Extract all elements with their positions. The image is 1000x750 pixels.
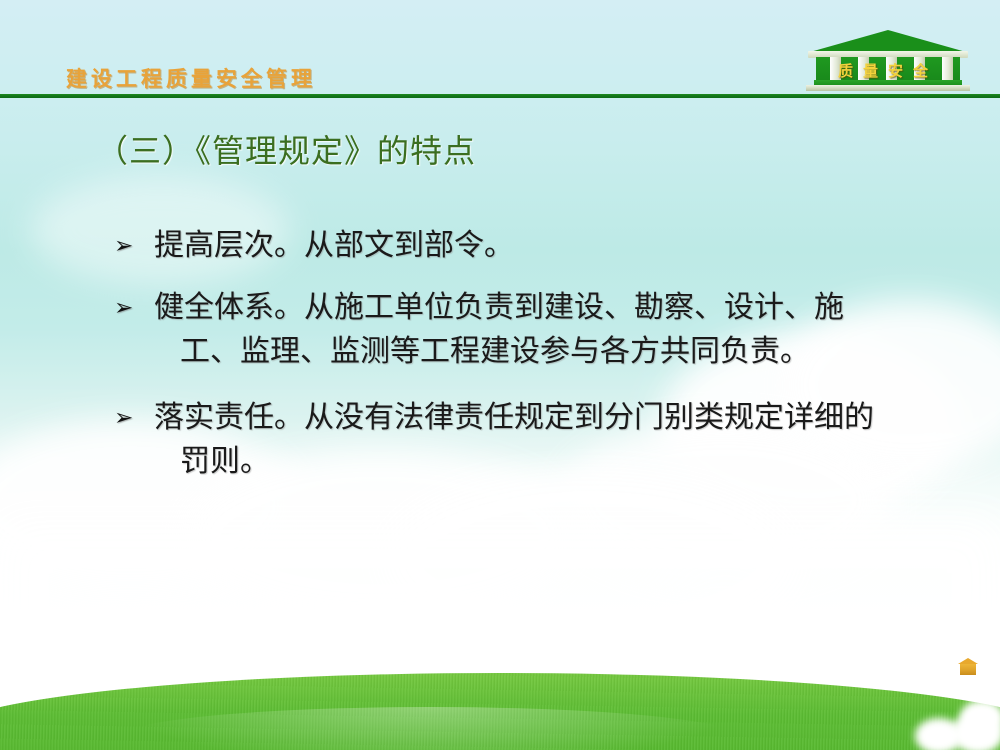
temple-building-icon: 质量安全: [806, 30, 970, 94]
house-icon: [960, 663, 976, 675]
header-title: 建设工程质量安全管理: [66, 63, 316, 93]
list-item: ➢ 健全体系。从施工单位负责到建设、勘察、设计、施工、监理、监测等工程建设参与各…: [110, 286, 900, 374]
header-divider: [0, 94, 1000, 98]
list-item: ➢ 落实责任。从没有法律责任规定到分门别类规定详细的罚则。: [110, 396, 900, 484]
cloud-decoration: [0, 520, 1000, 670]
list-item-text: 落实责任。从没有法律责任规定到分门别类规定详细的罚则。: [180, 396, 900, 484]
list-item: ➢ 提高层次。从部文到部令。: [110, 224, 900, 268]
bullet-list: ➢ 提高层次。从部文到部令。 ➢ 健全体系。从施工单位负责到建设、勘察、设计、施…: [110, 224, 900, 502]
base-shape: [806, 85, 970, 91]
slide-canvas: 建设工程质量安全管理 质量安全 （三）《管理规定》的特点 ➢ 提高层次。从部文到…: [0, 0, 1000, 750]
grass-field: [0, 655, 1000, 750]
logo-label: 质量安全: [820, 60, 956, 81]
page-title: （三）《管理规定》的特点: [96, 126, 476, 172]
list-item-text: 健全体系。从施工单位负责到建设、勘察、设计、施工、监理、监测等工程建设参与各方共…: [180, 286, 900, 374]
cloud-decoration: [960, 700, 1000, 734]
pediment-shape: [810, 30, 966, 52]
list-item-text: 提高层次。从部文到部令。: [180, 224, 900, 268]
